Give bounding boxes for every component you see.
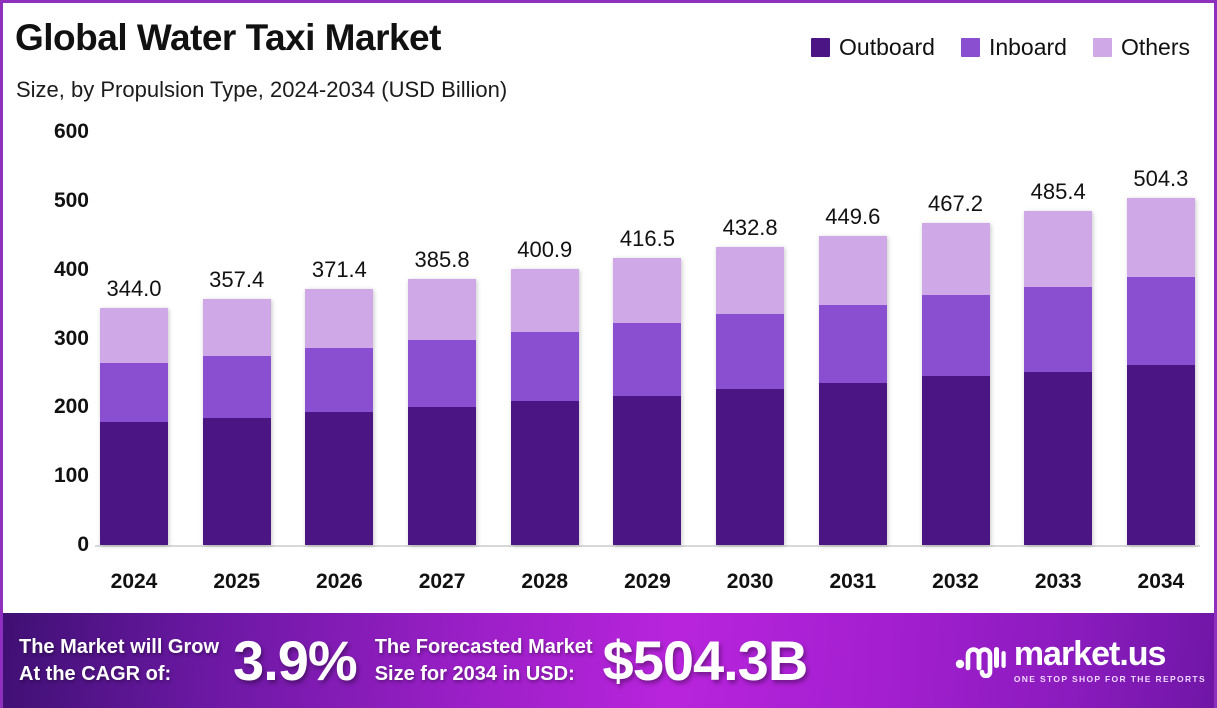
- y-axis-tick-label: 600: [13, 120, 89, 144]
- bar-total-label: 432.8: [723, 215, 778, 241]
- bar-segment-outboard[interactable]: [408, 407, 476, 545]
- x-axis-tick-label: 2026: [300, 570, 378, 594]
- x-axis-line: [95, 545, 1200, 547]
- forecast-caption: The Forecasted Market Size for 2034 in U…: [375, 634, 593, 688]
- y-axis-tick-label: 300: [13, 327, 89, 351]
- bar-segment-outboard[interactable]: [716, 389, 784, 545]
- bar-total-label: 385.8: [415, 247, 470, 273]
- chart-subtitle: Size, by Propulsion Type, 2024-2034 (USD…: [16, 77, 507, 103]
- y-axis-tick-label: 500: [13, 189, 89, 213]
- forecast-caption-line2: Size for 2034 in USD:: [375, 661, 593, 688]
- x-axis-tick-label: 2029: [608, 570, 686, 594]
- y-axis-tick-label: 400: [13, 258, 89, 282]
- bar-segment-inboard[interactable]: [613, 323, 681, 395]
- logo-mark-icon: [954, 638, 1006, 683]
- y-axis-tick-label: 0: [13, 533, 89, 557]
- y-axis: 0100200300400500600: [3, 115, 89, 610]
- cagr-caption-line2: At the CAGR of:: [19, 661, 219, 688]
- x-axis-tick-label: 2030: [711, 570, 789, 594]
- bar-column[interactable]: 504.3: [1122, 115, 1200, 545]
- chart-infographic: Global Water Taxi Market Size, by Propul…: [0, 0, 1217, 708]
- plot-grid-area: 344.0357.4371.4385.8400.9416.5432.8449.6…: [95, 115, 1200, 610]
- x-axis-tick-label: 2034: [1122, 570, 1200, 594]
- x-axis-tick-label: 2031: [814, 570, 892, 594]
- bar-column[interactable]: 357.4: [198, 115, 276, 545]
- stacked-bar[interactable]: [1127, 198, 1195, 545]
- bar-total-label: 416.5: [620, 226, 675, 252]
- bar-segment-others[interactable]: [819, 236, 887, 306]
- bar-segment-outboard[interactable]: [613, 396, 681, 545]
- bar-segment-outboard[interactable]: [305, 412, 373, 545]
- logo-wordmark: market.us ONE STOP SHOP FOR THE REPORTS: [1014, 637, 1206, 684]
- stacked-bar[interactable]: [408, 279, 476, 545]
- legend-item-inboard[interactable]: Inboard: [961, 34, 1067, 61]
- bar-column[interactable]: 449.6: [814, 115, 892, 545]
- bar-segment-outboard[interactable]: [1024, 372, 1092, 545]
- bar-segment-inboard[interactable]: [100, 363, 168, 422]
- bar-segment-others[interactable]: [922, 223, 990, 295]
- bar-segment-inboard[interactable]: [1127, 277, 1195, 365]
- forecast-caption-line1: The Forecasted Market: [375, 634, 593, 661]
- legend-item-outboard[interactable]: Outboard: [811, 34, 935, 61]
- bar-total-label: 467.2: [928, 191, 983, 217]
- page-title: Global Water Taxi Market: [15, 17, 441, 59]
- bar-total-label: 485.4: [1031, 179, 1086, 205]
- legend-swatch-icon: [811, 38, 830, 57]
- bar-total-label: 449.6: [825, 204, 880, 230]
- x-axis-tick-label: 2027: [403, 570, 481, 594]
- bar-segment-outboard[interactable]: [1127, 365, 1195, 545]
- bar-column[interactable]: 344.0: [95, 115, 173, 545]
- bar-segment-others[interactable]: [511, 269, 579, 332]
- chart-plot-area: 0100200300400500600 344.0357.4371.4385.8…: [3, 115, 1214, 610]
- logo-name: market.us: [1014, 637, 1206, 671]
- bar-segment-others[interactable]: [203, 299, 271, 356]
- bar-segment-others[interactable]: [716, 247, 784, 314]
- bar-segment-inboard[interactable]: [1024, 287, 1092, 372]
- bar-column[interactable]: 432.8: [711, 115, 789, 545]
- bar-segment-inboard[interactable]: [511, 332, 579, 402]
- x-axis-tick-label: 2033: [1019, 570, 1097, 594]
- footer-banner: The Market will Grow At the CAGR of: 3.9…: [3, 613, 1217, 708]
- bar-segment-others[interactable]: [305, 289, 373, 348]
- bar-segment-outboard[interactable]: [203, 418, 271, 545]
- x-axis-tick-label: 2025: [198, 570, 276, 594]
- chart-legend: OutboardInboardOthers: [811, 34, 1190, 61]
- cagr-caption-line1: The Market will Grow: [19, 634, 219, 661]
- stacked-bar[interactable]: [511, 269, 579, 545]
- bar-total-label: 400.9: [517, 237, 572, 263]
- bar-column[interactable]: 385.8: [403, 115, 481, 545]
- bar-segment-others[interactable]: [408, 279, 476, 339]
- stacked-bar[interactable]: [819, 236, 887, 545]
- bar-segment-others[interactable]: [613, 258, 681, 323]
- bar-segment-others[interactable]: [1024, 211, 1092, 287]
- market-us-logo[interactable]: market.us ONE STOP SHOP FOR THE REPORTS: [954, 637, 1206, 684]
- bar-column[interactable]: 416.5: [608, 115, 686, 545]
- legend-item-label: Others: [1121, 34, 1190, 61]
- bar-segment-outboard[interactable]: [511, 401, 579, 545]
- bar-column[interactable]: 485.4: [1019, 115, 1097, 545]
- chart-header: Global Water Taxi Market Size, by Propul…: [3, 3, 1214, 115]
- bar-segment-inboard[interactable]: [922, 295, 990, 376]
- bar-column[interactable]: 371.4: [300, 115, 378, 545]
- stacked-bar[interactable]: [100, 308, 168, 545]
- x-axis-tick-label: 2028: [506, 570, 584, 594]
- bar-segment-others[interactable]: [1127, 198, 1195, 277]
- stacked-bar[interactable]: [1024, 211, 1092, 545]
- logo-tagline: ONE STOP SHOP FOR THE REPORTS: [1014, 674, 1206, 684]
- stacked-bar[interactable]: [305, 289, 373, 545]
- stacked-bar[interactable]: [613, 258, 681, 545]
- bar-segment-inboard[interactable]: [716, 314, 784, 389]
- x-axis: 2024202520262027202820292030203120322033…: [95, 562, 1200, 602]
- bar-column[interactable]: 400.9: [506, 115, 584, 545]
- bar-total-label: 504.3: [1133, 166, 1188, 192]
- legend-item-others[interactable]: Others: [1093, 34, 1190, 61]
- bar-total-label: 371.4: [312, 257, 367, 283]
- bar-series-container: 344.0357.4371.4385.8400.9416.5432.8449.6…: [95, 115, 1200, 545]
- legend-item-label: Outboard: [839, 34, 935, 61]
- bar-total-label: 344.0: [106, 276, 161, 302]
- bar-column[interactable]: 467.2: [917, 115, 995, 545]
- cagr-caption: The Market will Grow At the CAGR of:: [19, 634, 219, 688]
- forecast-value: $504.3B: [603, 628, 808, 693]
- bar-segment-outboard[interactable]: [100, 422, 168, 545]
- bar-segment-inboard[interactable]: [819, 305, 887, 383]
- stacked-bar[interactable]: [203, 299, 271, 545]
- y-axis-tick-label: 100: [13, 464, 89, 488]
- y-axis-tick-label: 200: [13, 395, 89, 419]
- x-axis-tick-label: 2024: [95, 570, 173, 594]
- cagr-value: 3.9%: [233, 628, 357, 693]
- bar-segment-outboard[interactable]: [922, 376, 990, 545]
- stacked-bar[interactable]: [922, 223, 990, 545]
- legend-item-label: Inboard: [989, 34, 1067, 61]
- legend-swatch-icon: [1093, 38, 1112, 57]
- bar-segment-inboard[interactable]: [305, 348, 373, 412]
- bar-total-label: 357.4: [209, 267, 264, 293]
- bar-segment-outboard[interactable]: [819, 383, 887, 545]
- bar-segment-others[interactable]: [100, 308, 168, 363]
- legend-swatch-icon: [961, 38, 980, 57]
- stacked-bar[interactable]: [716, 247, 784, 545]
- x-axis-tick-label: 2032: [917, 570, 995, 594]
- bar-segment-inboard[interactable]: [408, 340, 476, 407]
- bar-segment-inboard[interactable]: [203, 356, 271, 418]
